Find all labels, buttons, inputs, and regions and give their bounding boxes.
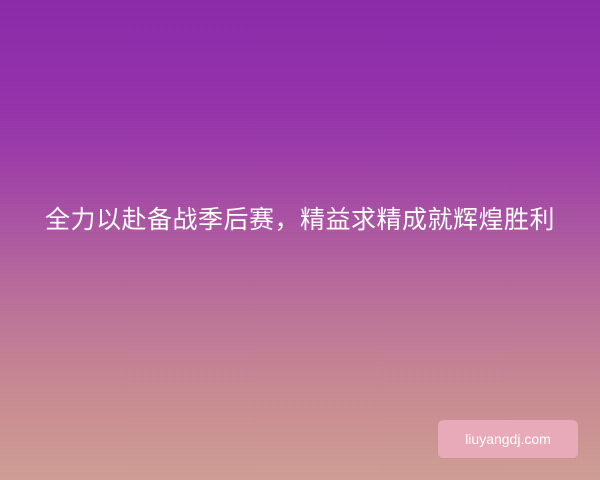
watermark-badge: liuyangdj.com	[438, 420, 578, 458]
noise-texture-overlay	[0, 0, 600, 480]
promo-banner: 全力以赴备战季后赛，精益求精成就辉煌胜利 liuyangdj.com	[0, 0, 600, 480]
headline-text: 全力以赴备战季后赛，精益求精成就辉煌胜利	[0, 200, 600, 240]
watermark-label: liuyangdj.com	[465, 431, 551, 447]
